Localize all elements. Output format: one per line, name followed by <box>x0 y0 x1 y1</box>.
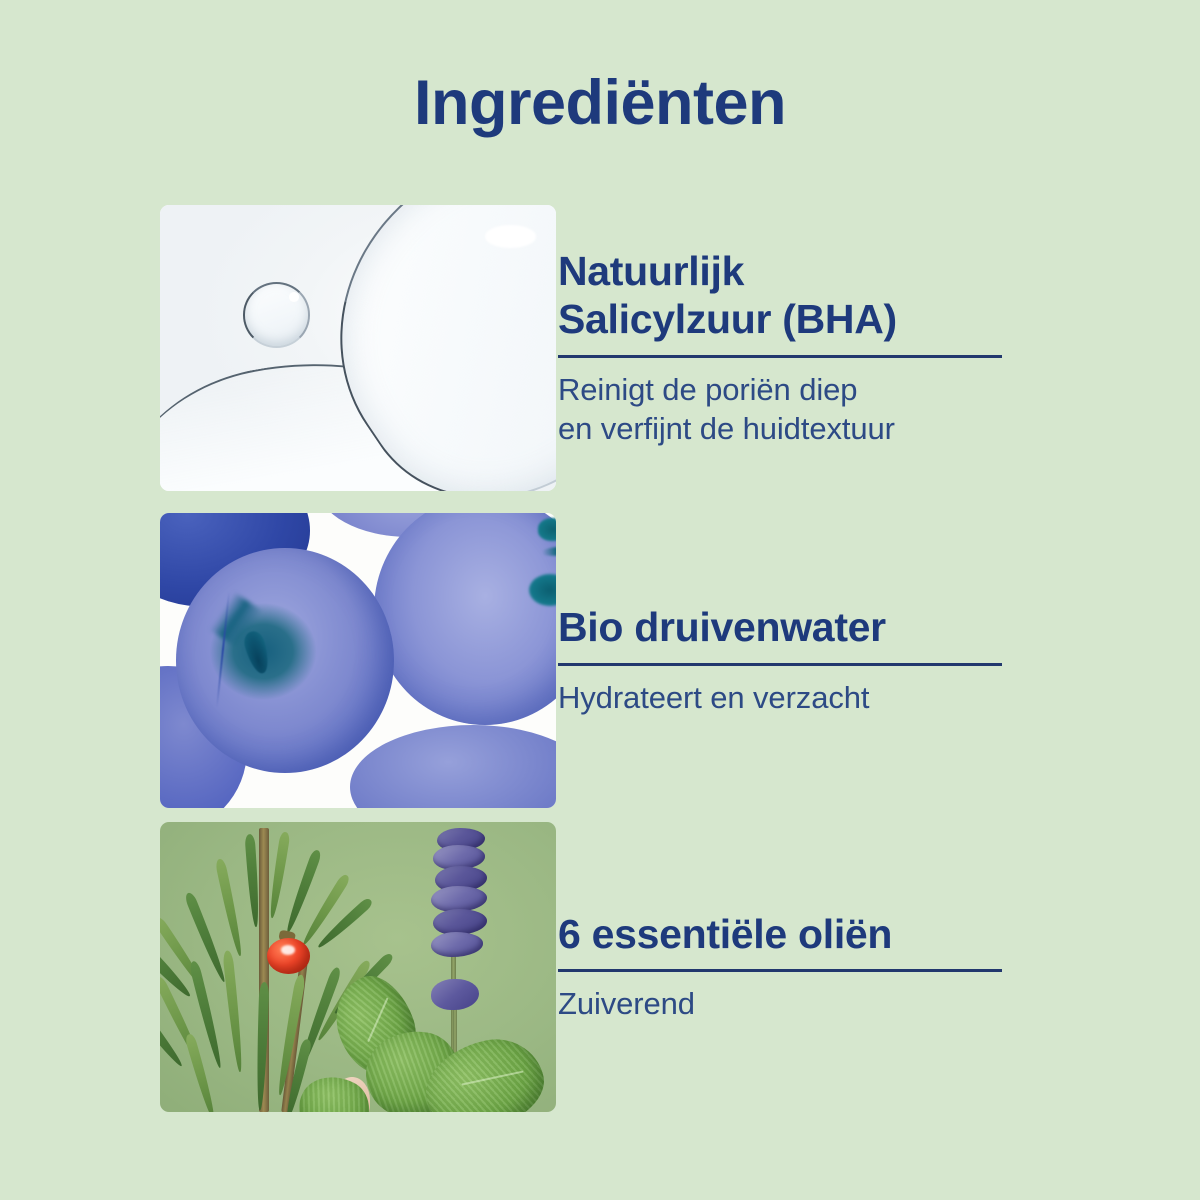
grape-shape-bottom-right <box>350 725 556 808</box>
lavender-bud <box>431 886 486 912</box>
rosemary-needle <box>223 950 245 1072</box>
page-title: Ingrediënten <box>0 70 1200 136</box>
ingredient-text-druivenwater: Bio druivenwater Hydrateert en verzacht <box>558 513 1002 808</box>
lavender-bud-lower <box>431 979 479 1011</box>
lavender-bud <box>431 932 482 957</box>
ingredient-image-blue-grapes <box>160 513 556 808</box>
grape-shape-right-halved <box>374 513 556 725</box>
ingredient-heading-line-1: 6 essentiële oliën <box>558 910 1002 958</box>
ingredient-image-herbs <box>160 822 556 1112</box>
ingredient-heading-line-2: Salicylzuur (BHA) <box>558 295 1002 343</box>
ingredient-row-druivenwater: Bio druivenwater Hydrateert en verzacht <box>0 513 1200 808</box>
ingredient-description: Reinigt de poriën diep en verfijnt de hu… <box>558 370 1002 449</box>
grape-seed-spot <box>538 518 556 541</box>
red-berry-highlight <box>281 945 295 955</box>
ingredient-divider <box>558 355 1002 358</box>
ingredient-divider <box>558 969 1002 972</box>
ingredient-row-essentiele-olien: 6 essentiële oliën Zuiverend <box>0 822 1200 1112</box>
small-droplet-highlight <box>289 292 299 302</box>
ingredient-heading: Bio druivenwater <box>558 603 1002 651</box>
ingredient-description-line-1: Hydrateert en verzacht <box>558 678 1002 718</box>
rosemary-needle <box>215 858 245 956</box>
ingredient-heading-line-1: Bio druivenwater <box>558 603 1002 651</box>
large-droplet-highlight <box>485 225 536 248</box>
ingredient-heading: 6 essentiële oliën <box>558 910 1002 958</box>
ingredient-description-line-1: Zuiverend <box>558 984 1002 1024</box>
grape-shape-left-halved <box>176 548 394 772</box>
ingredient-description-line-1: Reinigt de poriën diep <box>558 370 1002 410</box>
ingredient-image-clear-gel-droplet <box>160 205 556 491</box>
rosemary-needle <box>267 831 290 918</box>
ingredient-description-line-2: en verfijnt de huidtextuur <box>558 409 1002 449</box>
small-droplet-shape <box>243 282 310 348</box>
ingredient-row-salicylzuur: Natuurlijk Salicylzuur (BHA) Reinigt de … <box>0 205 1200 491</box>
ingredient-text-salicylzuur: Natuurlijk Salicylzuur (BHA) Reinigt de … <box>558 205 1002 491</box>
grape-seed-spot <box>529 574 556 606</box>
grape-seed-streak <box>542 544 556 557</box>
ingredient-divider <box>558 663 1002 666</box>
ingredient-heading-line-1: Natuurlijk <box>558 247 1002 295</box>
ingredient-heading: Natuurlijk Salicylzuur (BHA) <box>558 247 1002 344</box>
ingredient-description: Hydrateert en verzacht <box>558 678 1002 718</box>
ingredient-description: Zuiverend <box>558 984 1002 1024</box>
grape-seed <box>241 629 272 675</box>
ingredient-text-essentiele-olien: 6 essentiële oliën Zuiverend <box>558 822 1002 1112</box>
lavender-bud <box>433 909 486 935</box>
